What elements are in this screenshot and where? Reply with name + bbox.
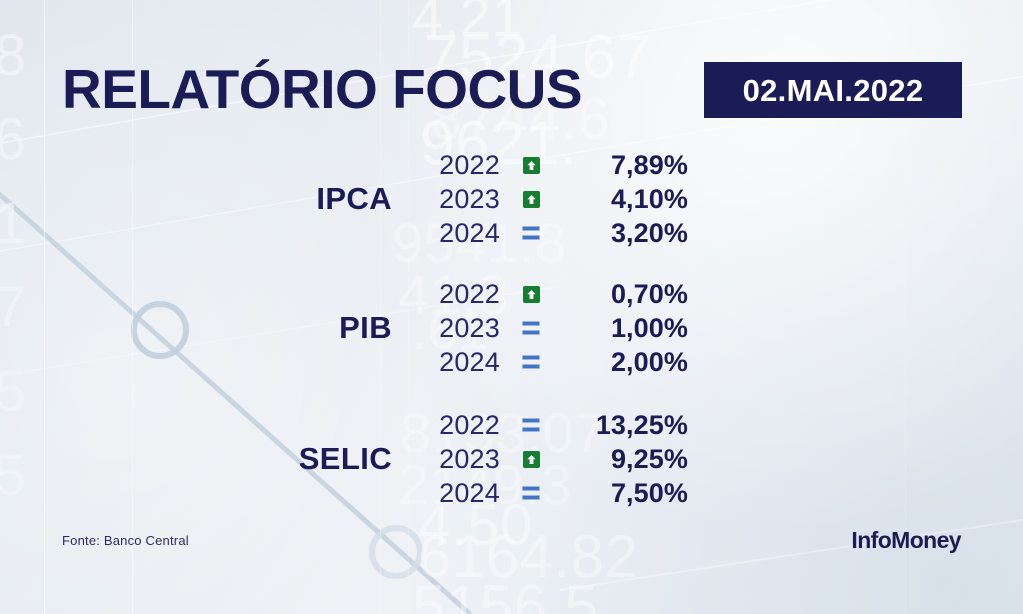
trend-cell (500, 321, 562, 335)
row-value: 3,20% (562, 218, 688, 249)
table-row: 2023 9,25% (408, 442, 740, 476)
page-title: RELATÓRIO FOCUS (62, 58, 582, 120)
table-row: 2023 4,10% (408, 182, 740, 216)
row-year: 2023 (408, 313, 500, 344)
table-row: 2024 3,20% (408, 216, 740, 250)
arrow-up-icon (523, 286, 540, 303)
table-row: 2024 2,00% (408, 345, 740, 379)
equals-icon (522, 418, 540, 432)
indicator-label-selic: SELIC (180, 441, 408, 477)
trend-cell (500, 486, 562, 500)
arrow-up-icon (523, 451, 540, 468)
trend-cell (500, 451, 562, 468)
trend-cell (500, 191, 562, 208)
focus-report-card: 8 6 1 7 5 5 4.21 7524.67 8744.6 9621. 95… (0, 0, 1023, 614)
indicator-rows-ipca: 2022 7,89% 2023 4,10% 2024 (408, 148, 740, 250)
indicator-group-ipca: IPCA 2022 7,89% 2023 4,10% (180, 148, 740, 250)
row-value: 0,70% (562, 279, 688, 310)
row-value: 13,25% (562, 410, 688, 441)
arrow-up-icon (523, 157, 540, 174)
row-value: 2,00% (562, 347, 688, 378)
row-year: 2024 (408, 218, 500, 249)
row-year: 2023 (408, 444, 500, 475)
row-year: 2024 (408, 347, 500, 378)
trend-cell (500, 157, 562, 174)
equals-icon (522, 486, 540, 500)
trend-cell (500, 286, 562, 303)
infomoney-logo: InfoMoney (851, 527, 961, 554)
row-value: 4,10% (562, 184, 688, 215)
source-note: Fonte: Banco Central (62, 533, 189, 548)
equals-icon (522, 355, 540, 369)
indicator-rows-pib: 2022 0,70% 2023 1,00% 2024 (408, 277, 740, 379)
row-value: 1,00% (562, 313, 688, 344)
indicator-group-pib: PIB 2022 0,70% 2023 1,00% 2024 (180, 277, 740, 379)
row-value: 7,89% (562, 150, 688, 181)
trend-cell (500, 226, 562, 240)
indicator-rows-selic: 2022 13,25% 2023 9,25% 2024 (408, 408, 740, 510)
date-badge: 02.MAI.2022 (704, 62, 962, 118)
indicator-label-ipca: IPCA (180, 181, 408, 217)
date-badge-text: 02.MAI.2022 (743, 75, 924, 106)
trend-cell (500, 355, 562, 369)
table-row: 2022 13,25% (408, 408, 740, 442)
background-digit-column: 8 6 1 7 5 5 (0, 14, 26, 519)
equals-icon (522, 226, 540, 240)
row-year: 2023 (408, 184, 500, 215)
table-row: 2023 1,00% (408, 311, 740, 345)
row-year: 2024 (408, 478, 500, 509)
arrow-up-icon (523, 191, 540, 208)
row-year: 2022 (408, 150, 500, 181)
row-value: 9,25% (562, 444, 688, 475)
equals-icon (522, 321, 540, 335)
indicator-label-pib: PIB (180, 310, 408, 346)
row-year: 2022 (408, 410, 500, 441)
row-value: 7,50% (562, 478, 688, 509)
table-row: 2022 0,70% (408, 277, 740, 311)
trend-cell (500, 418, 562, 432)
table-row: 2024 7,50% (408, 476, 740, 510)
table-row: 2022 7,89% (408, 148, 740, 182)
indicator-group-selic: SELIC 2022 13,25% 2023 9,25% 2024 (180, 408, 740, 510)
row-year: 2022 (408, 279, 500, 310)
